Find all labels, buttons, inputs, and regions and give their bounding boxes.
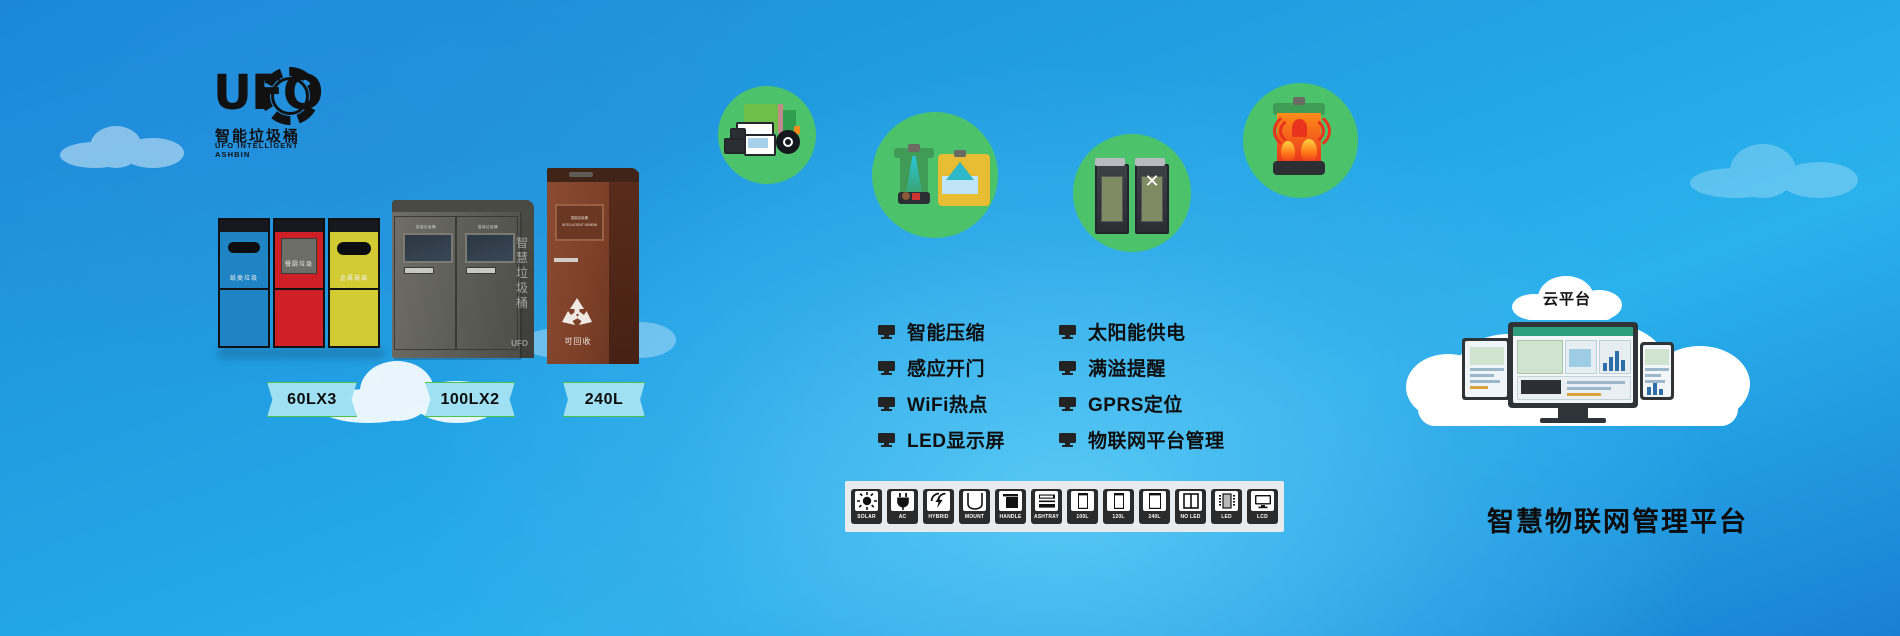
option-label: 120L xyxy=(1112,514,1124,520)
blank-panel-icon xyxy=(1179,491,1202,511)
handle-icon xyxy=(999,491,1022,511)
monitor-icon xyxy=(1059,397,1076,411)
monitor-stand xyxy=(1558,408,1588,418)
compartment-lower xyxy=(275,288,323,346)
fill-level-sensor-circle xyxy=(872,112,998,238)
feature-column-left: 智能压缩 感应开门 WiFi热点 LED显示屏 xyxy=(878,318,1005,453)
option-ac: AC xyxy=(887,489,918,524)
drop-slot-icon xyxy=(337,242,371,255)
option-icon-strip: SOLAR AC HYBRID M xyxy=(845,481,1284,532)
brand-logo: UFO 智能垃圾桶 UFO INTELLIGENT ASHBIN xyxy=(213,55,323,150)
recycle-symbol-icon xyxy=(559,296,595,333)
deposit-window xyxy=(465,233,515,263)
bin-compartment-metal-glass: 金属玻璃 xyxy=(328,218,380,348)
cloud-decor-left xyxy=(60,120,190,170)
cloud-platform-label: 云平台 xyxy=(1512,288,1622,309)
bin-shadow xyxy=(218,348,384,358)
option-label: 100L xyxy=(1076,514,1088,520)
screen-caption-cn: 智能垃圾桶 xyxy=(557,216,602,221)
option-label: LCD xyxy=(1257,514,1268,520)
led-panel-icon xyxy=(1215,491,1238,511)
monitor-icon xyxy=(1059,325,1076,339)
feature-item: 太阳能供电 xyxy=(1059,318,1225,345)
option-label: MOUNT xyxy=(965,514,984,520)
monitor-icon xyxy=(1059,433,1076,447)
indicator-light xyxy=(569,172,593,177)
compartment-face: 金属玻璃 xyxy=(330,232,378,288)
display-screen: 智能垃圾桶 INTELLIGENT ASHBIN xyxy=(555,204,604,241)
fleet-management-circle xyxy=(718,86,816,184)
feature-label: 太阳能供电 xyxy=(1088,318,1186,345)
feature-column-right: 太阳能供电 满溢提醒 GPRS定位 物联网平台管理 xyxy=(1059,318,1225,453)
sensor-bin-icon xyxy=(872,112,998,238)
capacity-label: 60LX3 xyxy=(287,391,337,409)
option-label: HYBRID xyxy=(928,514,948,520)
ashtray-icon xyxy=(1035,491,1058,511)
screen-caption: 智能垃圾桶 xyxy=(403,225,449,230)
compartment-face: 纸类垃圾 xyxy=(220,232,268,288)
fire-alarm-circle xyxy=(1243,83,1358,198)
monitor-base xyxy=(1540,418,1606,423)
bin-front-panel: 智能垃圾桶 INTELLIGENT ASHBIN 可回收 xyxy=(547,178,609,364)
feature-list: 智能压缩 感应开门 WiFi热点 LED显示屏 太阳能供电 满溢提醒 xyxy=(878,318,1298,453)
brown-recycle-bin: 智能垃圾桶 INTELLIGENT ASHBIN 可回收 xyxy=(547,168,639,364)
card-slot-icon xyxy=(554,258,578,262)
compartment-top xyxy=(275,220,323,232)
compartment-face: 餐厨垃圾 xyxy=(275,232,323,288)
bin-icon xyxy=(1071,491,1094,511)
platform-title: 智慧物联网管理平台 xyxy=(1487,500,1748,539)
mount-icon xyxy=(963,491,986,511)
bolt-icon xyxy=(927,491,950,511)
monitor-icon xyxy=(878,433,895,447)
feature-label: 智能压缩 xyxy=(907,318,985,345)
monitor-icon xyxy=(878,361,895,375)
option-label: NO LED xyxy=(1180,514,1200,520)
feature-label: WiFi热点 xyxy=(907,390,988,417)
bin-top xyxy=(392,200,534,212)
phone-device xyxy=(1640,342,1674,400)
desktop-monitor xyxy=(1508,322,1638,408)
logo-inner-ring-icon xyxy=(271,77,309,115)
drop-slot-icon xyxy=(228,242,260,253)
option-solar: SOLAR xyxy=(851,489,882,524)
card-slot-icon xyxy=(404,267,434,274)
bin-brand-mark: UFO xyxy=(511,339,528,348)
recycle-label: 可回收 xyxy=(555,336,601,347)
compartment-label: 餐厨垃圾 xyxy=(275,259,323,268)
screen-caption: 智能垃圾桶 xyxy=(465,225,511,230)
monitor-icon xyxy=(878,325,895,339)
bin-compartment-kitchen: 餐厨垃圾 xyxy=(273,218,325,348)
bin-top xyxy=(547,168,639,182)
tablet-screen xyxy=(1465,341,1507,397)
compaction-circle: ✕ xyxy=(1073,134,1191,252)
option-led: LED xyxy=(1211,489,1242,524)
monitor-icon xyxy=(1059,361,1076,375)
option-label: AC xyxy=(899,514,907,520)
feature-label: LED显示屏 xyxy=(907,426,1005,453)
option-hybrid: HYBRID xyxy=(923,489,954,524)
compartment-lower xyxy=(330,288,378,346)
double-bin-icon: ✕ xyxy=(1073,134,1191,252)
option-lcd: LCD xyxy=(1247,489,1278,524)
option-no-led: NO LED xyxy=(1175,489,1206,524)
bin-lid xyxy=(1095,158,1125,166)
sun-icon xyxy=(855,491,878,511)
capacity-banner-240l: 240L xyxy=(563,382,645,417)
bin-icon xyxy=(1107,491,1130,511)
bin-door-left: 智能垃圾桶 xyxy=(394,216,456,350)
logo-name-en: UFO INTELLIGENT ASHBIN xyxy=(215,141,323,159)
bin-compartment-paper: 纸类垃圾 xyxy=(218,218,270,348)
option-ashtray: ASHTRAY xyxy=(1031,489,1062,524)
phone-screen xyxy=(1643,345,1671,397)
feature-item: LED显示屏 xyxy=(878,426,1005,453)
option-label: HANDLE xyxy=(999,514,1021,520)
compartment-top xyxy=(220,220,268,232)
bin-vertical-text: 智慧垃圾桶 xyxy=(516,236,530,311)
card-slot-icon xyxy=(466,267,496,274)
capacity-banner-60lx3: 60LX3 xyxy=(267,382,357,417)
bin-door-right: 智能垃圾桶 xyxy=(456,216,518,350)
option-label: ASHTRAY xyxy=(1034,514,1059,520)
poster-canvas: UFO 智能垃圾桶 UFO INTELLIGENT ASHBIN 纸类垃圾 餐厨… xyxy=(0,0,1900,636)
cloud-decor-right xyxy=(1690,140,1860,200)
bin-icon xyxy=(1143,491,1166,511)
option-handle: HANDLE xyxy=(995,489,1026,524)
screen-caption-en: INTELLIGENT ASHBIN xyxy=(557,223,602,228)
bin-window xyxy=(1101,176,1123,222)
feature-item: GPRS定位 xyxy=(1059,390,1225,417)
capacity-label: 240L xyxy=(585,391,623,409)
feature-label: 满溢提醒 xyxy=(1088,354,1166,381)
compartment-lower xyxy=(220,288,268,346)
gray-double-bin: 智能垃圾桶 智能垃圾桶 智慧垃圾桶 UFO xyxy=(392,200,534,358)
feature-item: 满溢提醒 xyxy=(1059,354,1225,381)
iot-platform-illustration: 云平台 xyxy=(1400,280,1760,460)
feature-label: 物联网平台管理 xyxy=(1088,426,1225,453)
feature-item: 物联网平台管理 xyxy=(1059,426,1225,453)
bin-lid xyxy=(1135,158,1165,166)
fire-alarm-icon xyxy=(1243,83,1358,198)
deposit-window xyxy=(403,233,453,263)
feature-item: 感应开门 xyxy=(878,354,1005,381)
compartment-label: 金属玻璃 xyxy=(330,273,378,282)
option-240l: 240L xyxy=(1139,489,1170,524)
triple-sorting-bin: 纸类垃圾 餐厨垃圾 金属玻璃 xyxy=(218,218,384,348)
lcd-screen-icon xyxy=(1251,491,1274,511)
bin-side-panel xyxy=(608,172,639,364)
tablet-device xyxy=(1462,338,1510,400)
plug-icon xyxy=(891,491,914,511)
monitor-icon xyxy=(878,397,895,411)
option-mount: MOUNT xyxy=(959,489,990,524)
option-label: SOLAR xyxy=(857,514,876,520)
option-100l: 100L xyxy=(1067,489,1098,524)
compartment-label: 纸类垃圾 xyxy=(220,273,268,282)
capacity-banner-100lx2: 100LX2 xyxy=(425,382,515,417)
feature-label: GPRS定位 xyxy=(1088,390,1183,417)
option-120l: 120L xyxy=(1103,489,1134,524)
feature-item: WiFi热点 xyxy=(878,390,1005,417)
truck-icon xyxy=(718,86,816,184)
monitor-screen xyxy=(1513,327,1633,403)
feature-item: 智能压缩 xyxy=(878,318,1005,345)
feature-label: 感应开门 xyxy=(907,354,985,381)
option-label: 240L xyxy=(1148,514,1160,520)
compartment-top xyxy=(330,220,378,232)
option-label: LED xyxy=(1221,514,1232,520)
capacity-label: 100LX2 xyxy=(440,391,499,409)
